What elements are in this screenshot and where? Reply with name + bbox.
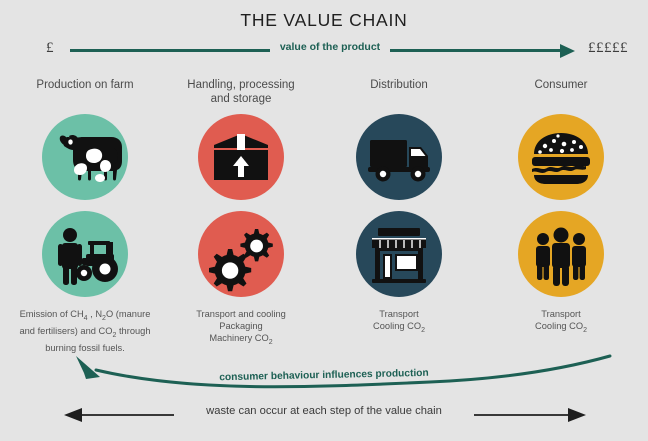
value-of-product-bar: £ value of the product £££££ bbox=[0, 38, 648, 62]
burger-icon bbox=[518, 114, 604, 200]
stage-caption: TransportCooling CO2 bbox=[480, 308, 642, 337]
storefront-icon bbox=[356, 211, 442, 297]
package-box-icon-circle bbox=[198, 114, 284, 200]
consumer-feedback-arrow: consumer behaviour influences production bbox=[0, 348, 648, 396]
currency-high-label: £££££ bbox=[588, 40, 628, 57]
stage-heading: Handling, processingand storage bbox=[160, 78, 322, 110]
cow-icon bbox=[42, 114, 128, 200]
farmer-tractor-icon bbox=[42, 211, 128, 297]
burger-icon-circle bbox=[518, 114, 604, 200]
stage-heading: Distribution bbox=[318, 78, 480, 110]
gears-icon bbox=[198, 211, 284, 297]
people-group-icon bbox=[518, 211, 604, 297]
value-line-right bbox=[390, 49, 562, 52]
cow-icon-circle bbox=[42, 114, 128, 200]
stage-caption: TransportCooling CO2 bbox=[318, 308, 480, 337]
chain-stage-distribution: Distribution bbox=[318, 78, 480, 337]
value-of-product-label: value of the product bbox=[270, 41, 390, 53]
stage-caption: Transport and coolingPackagingMachinery … bbox=[160, 308, 322, 349]
people-group-icon-circle bbox=[518, 211, 604, 297]
value-line-left bbox=[70, 49, 270, 52]
delivery-truck-icon bbox=[356, 114, 442, 200]
waste-arrow-label: waste can occur at each step of the valu… bbox=[174, 405, 474, 417]
delivery-truck-icon-circle bbox=[356, 114, 442, 200]
stage-caption: Emission of CH4 , N2O (manureand fertili… bbox=[4, 308, 166, 354]
value-arrow-head-icon bbox=[560, 44, 575, 58]
chain-stage-consumer: Consumer bbox=[480, 78, 642, 337]
storefront-icon-circle bbox=[356, 211, 442, 297]
gears-icon-circle bbox=[198, 211, 284, 297]
value-chain-infographic: THE VALUE CHAIN £ value of the product £… bbox=[0, 0, 648, 441]
page-title: THE VALUE CHAIN bbox=[0, 10, 648, 31]
chain-stage-handling-processing-storage: Handling, processingand storage bbox=[160, 78, 322, 349]
farmer-tractor-icon-circle bbox=[42, 211, 128, 297]
stage-heading: Consumer bbox=[480, 78, 642, 110]
waste-arrow: waste can occur at each step of the valu… bbox=[0, 400, 648, 432]
package-box-icon bbox=[198, 114, 284, 200]
value-chain-columns: Production on farm bbox=[0, 78, 648, 348]
chain-stage-production-on-farm: Production on farm bbox=[4, 78, 166, 354]
currency-low-label: £ bbox=[46, 40, 54, 57]
stage-heading: Production on farm bbox=[4, 78, 166, 110]
